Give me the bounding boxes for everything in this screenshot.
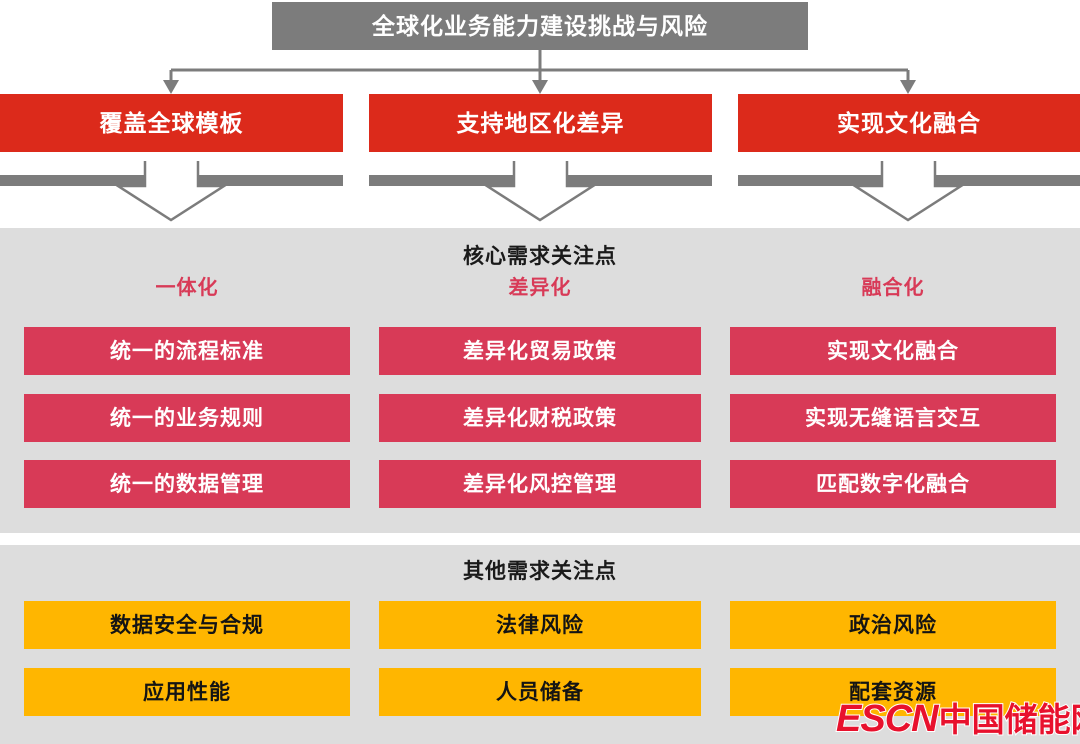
core-item-1-2[interactable]: 差异化风控管理 — [379, 460, 701, 508]
diagram-title: 全球化业务能力建设挑战与风险 — [272, 2, 808, 50]
core-item-1-1[interactable]: 差异化财税政策 — [379, 394, 701, 442]
funnel-arrow-0 — [118, 161, 224, 220]
core-panel-heading: 核心需求关注点 — [0, 228, 1080, 267]
other-item-1-0[interactable]: 法律风险 — [379, 601, 701, 649]
core-item-2-2[interactable]: 匹配数字化融合 — [730, 460, 1056, 508]
watermark-cn-text: 中国储能网 — [939, 703, 1080, 736]
pillar-box-1[interactable]: 支持地区化差异 — [369, 94, 712, 152]
core-item-0-2[interactable]: 统一的数据管理 — [24, 460, 350, 508]
core-item-0-1[interactable]: 统一的业务规则 — [24, 394, 350, 442]
arrowhead-pillar-0 — [163, 80, 179, 94]
diagram-canvas: 全球化业务能力建设挑战与风险 覆盖全球模板 支持地区化差异 实现文化融合 核心需… — [0, 0, 1080, 744]
core-item-2-1[interactable]: 实现无缝语言交互 — [730, 394, 1056, 442]
arrowhead-pillar-2 — [900, 80, 916, 94]
core-category-2: 融合化 — [730, 278, 1056, 298]
arrowhead-pillar-1 — [532, 80, 548, 94]
core-category-1: 差异化 — [379, 278, 701, 298]
core-category-row: 一体化 差异化 融合化 — [0, 278, 1080, 304]
funnel-bar-left-0 — [0, 175, 145, 186]
funnel-arrow-1 — [487, 161, 593, 220]
core-item-0-0[interactable]: 统一的流程标准 — [24, 327, 350, 375]
funnel-bar-right-2 — [935, 175, 1080, 186]
funnel-bar-right-1 — [567, 175, 712, 186]
core-item-1-0[interactable]: 差异化贸易政策 — [379, 327, 701, 375]
funnel-bar-right-0 — [198, 175, 343, 186]
pillar-box-0[interactable]: 覆盖全球模板 — [0, 94, 343, 152]
other-item-2-0[interactable]: 政治风险 — [730, 601, 1056, 649]
watermark-en-text: ESCN — [836, 700, 938, 738]
funnel-bar-left-2 — [738, 175, 882, 186]
other-item-0-1[interactable]: 应用性能 — [24, 668, 350, 716]
site-watermark: ESCN 中国储能网 — [836, 700, 1080, 738]
core-item-2-0[interactable]: 实现文化融合 — [730, 327, 1056, 375]
other-item-1-1[interactable]: 人员储备 — [379, 668, 701, 716]
funnel-bar-left-1 — [369, 175, 514, 186]
core-category-0: 一体化 — [24, 278, 350, 298]
funnel-arrow-2 — [855, 161, 961, 220]
other-item-0-0[interactable]: 数据安全与合规 — [24, 601, 350, 649]
other-panel-heading: 其他需求关注点 — [0, 545, 1080, 582]
pillar-box-2[interactable]: 实现文化融合 — [738, 94, 1080, 152]
